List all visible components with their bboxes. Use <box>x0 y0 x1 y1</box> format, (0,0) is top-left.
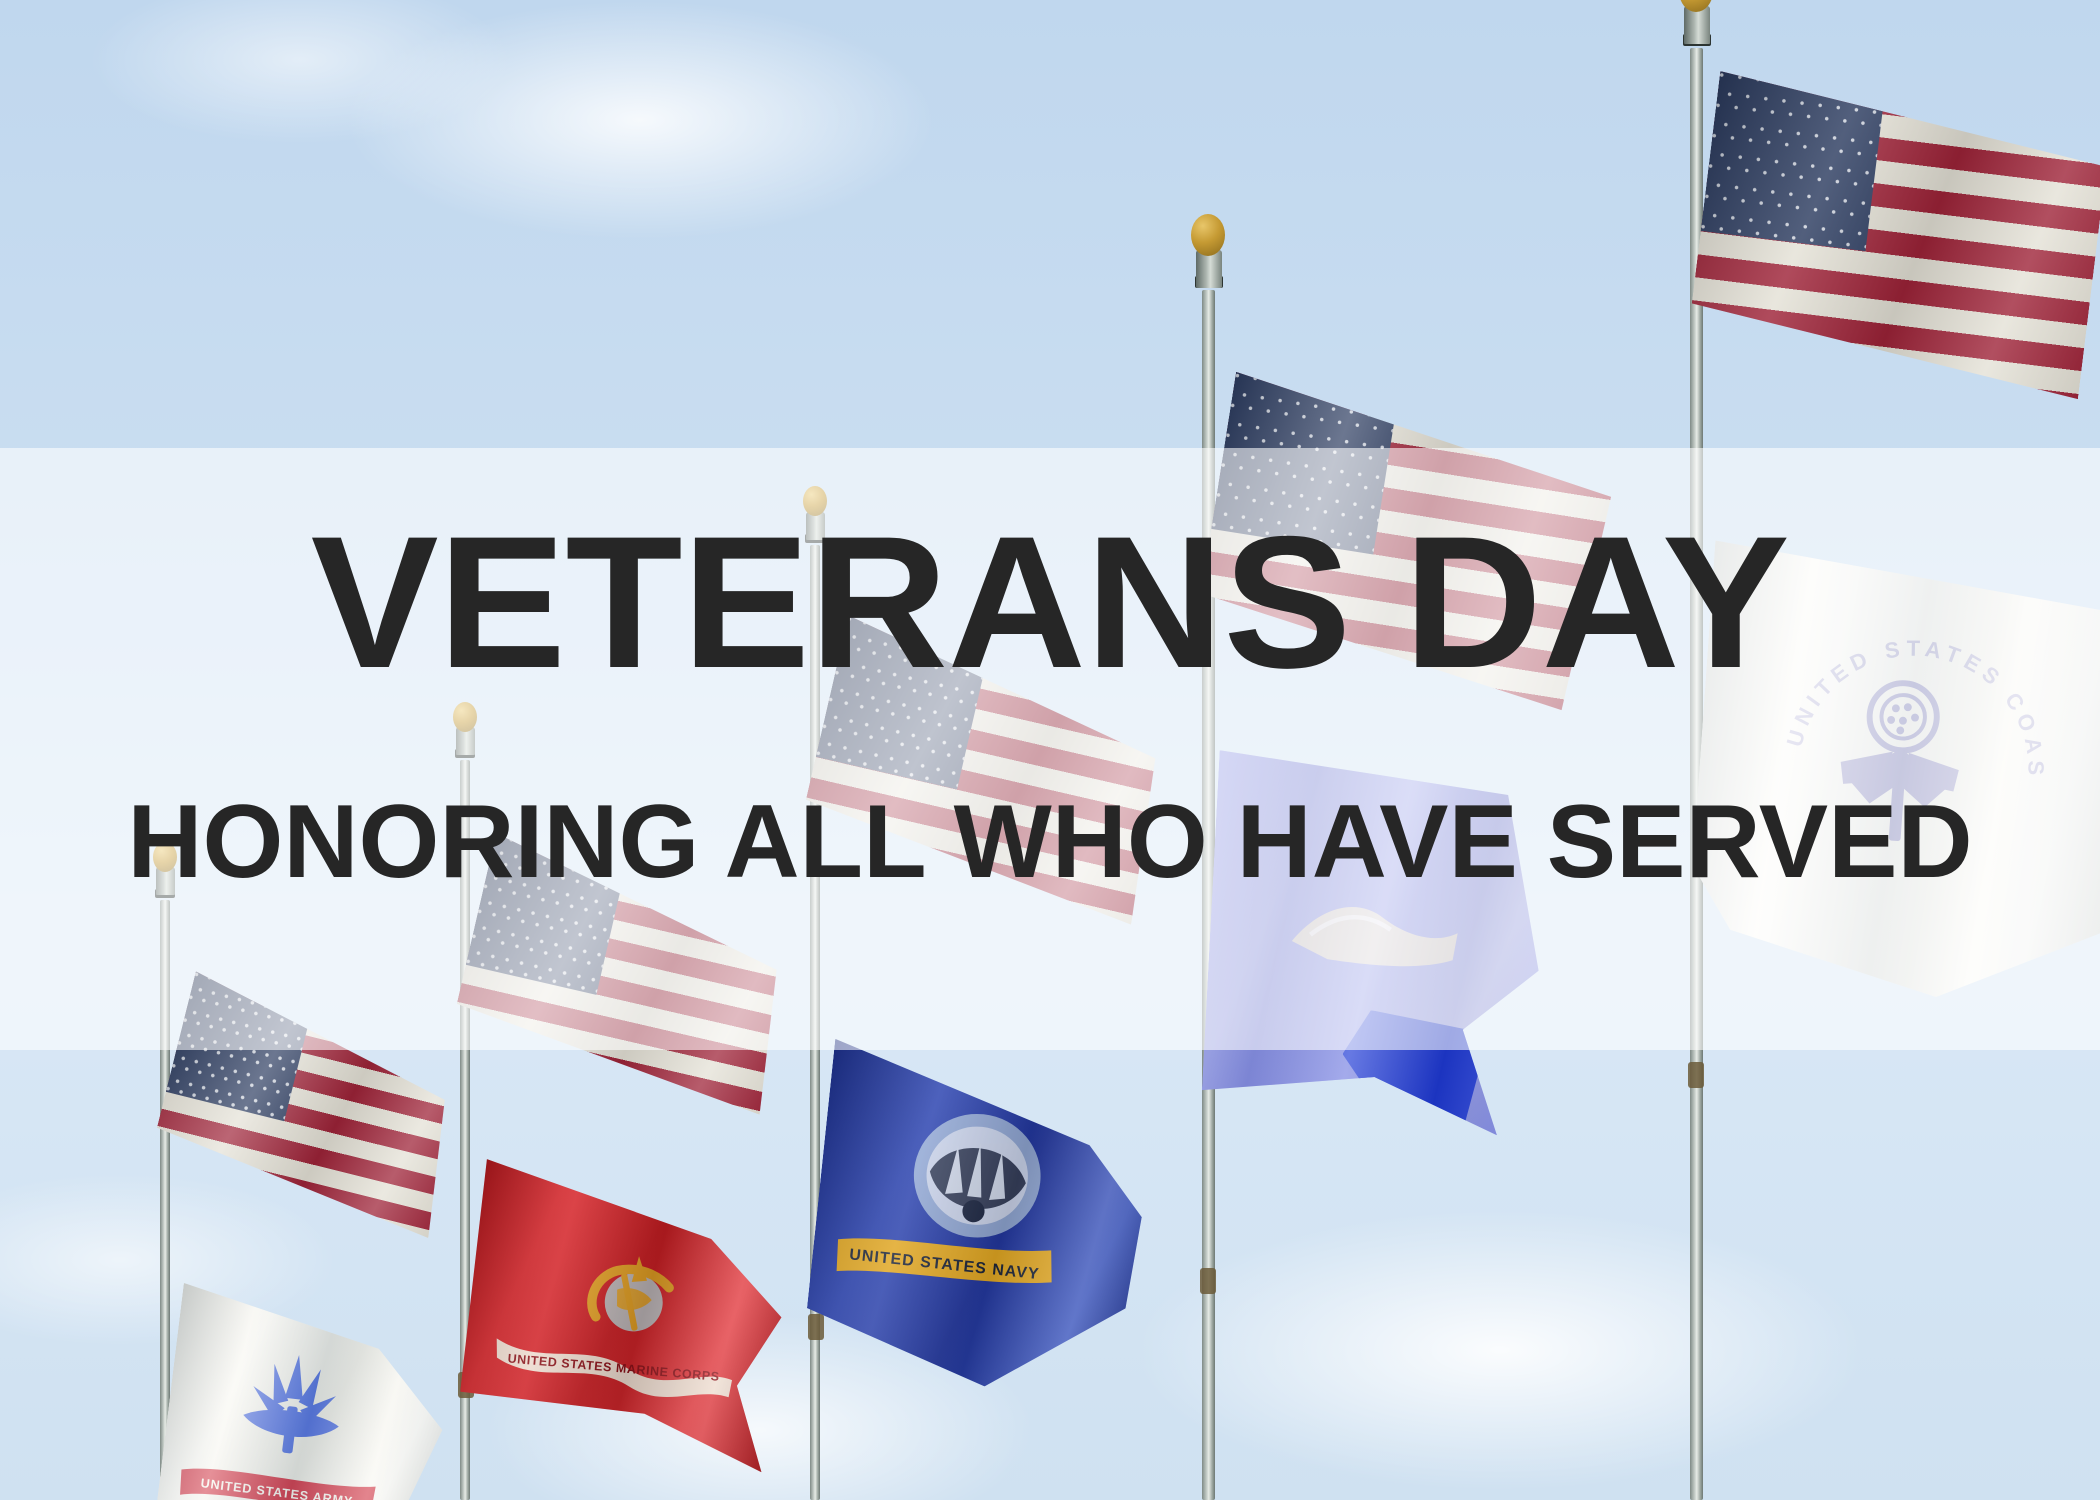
text-overlay-band <box>0 448 2100 1050</box>
flagpole-4-finial-ball <box>1191 214 1225 256</box>
flagpole-5-cleat <box>1688 1062 1704 1088</box>
veterans-day-poster: UNITED STATES COAST GUARD <box>0 0 2100 1500</box>
flagpole-4-cleat <box>1200 1268 1216 1294</box>
flagpole-3-cleat <box>808 1314 824 1340</box>
